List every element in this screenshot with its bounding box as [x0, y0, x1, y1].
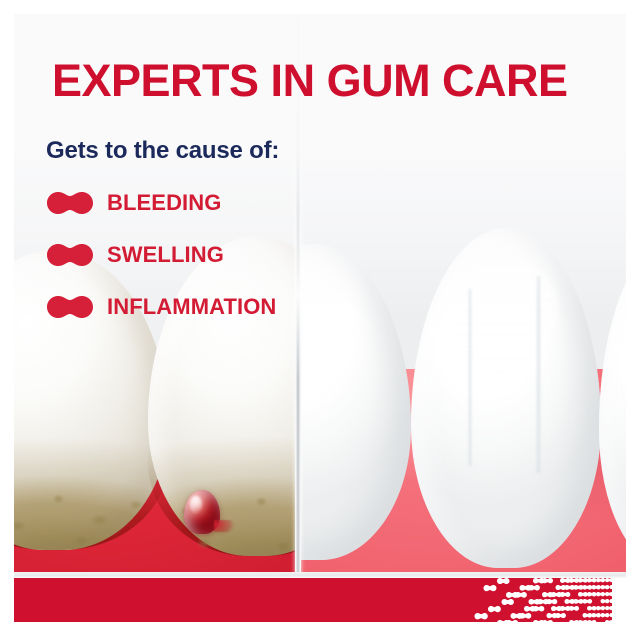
subheading: Gets to the cause of:	[46, 137, 279, 165]
comparison-photo-card: EXPERTS IN GUM CARE Gets to the cause of…	[14, 14, 626, 574]
list-item: SWELLING	[47, 236, 276, 274]
peanut-bullet-icon	[47, 192, 93, 214]
peanut-bullet-icon	[47, 296, 93, 318]
enamel-highlight	[301, 282, 360, 377]
peanut-bullet-icon	[47, 244, 93, 266]
list-item: BLEEDING	[47, 184, 276, 222]
benefit-label: INFLAMMATION	[107, 294, 276, 320]
benefit-label: BLEEDING	[107, 190, 221, 216]
enamel-highlight	[445, 255, 559, 371]
halftone-dissolve-pattern	[416, 578, 626, 622]
benefit-label: SWELLING	[107, 242, 224, 268]
page-title: EXPERTS IN GUM CARE	[52, 58, 568, 103]
enamel-highlight	[623, 271, 626, 370]
enamel-ridge	[536, 276, 541, 473]
enamel-ridge	[468, 289, 472, 466]
list-item: INFLAMMATION	[47, 288, 276, 326]
ad-creative: EXPERTS IN GUM CARE Gets to the cause of…	[0, 0, 640, 640]
blood-droplet-tail	[214, 520, 240, 532]
benefit-list: BLEEDING SWELLING INFLAMMATION	[47, 184, 276, 340]
brand-red-bar	[14, 578, 626, 622]
